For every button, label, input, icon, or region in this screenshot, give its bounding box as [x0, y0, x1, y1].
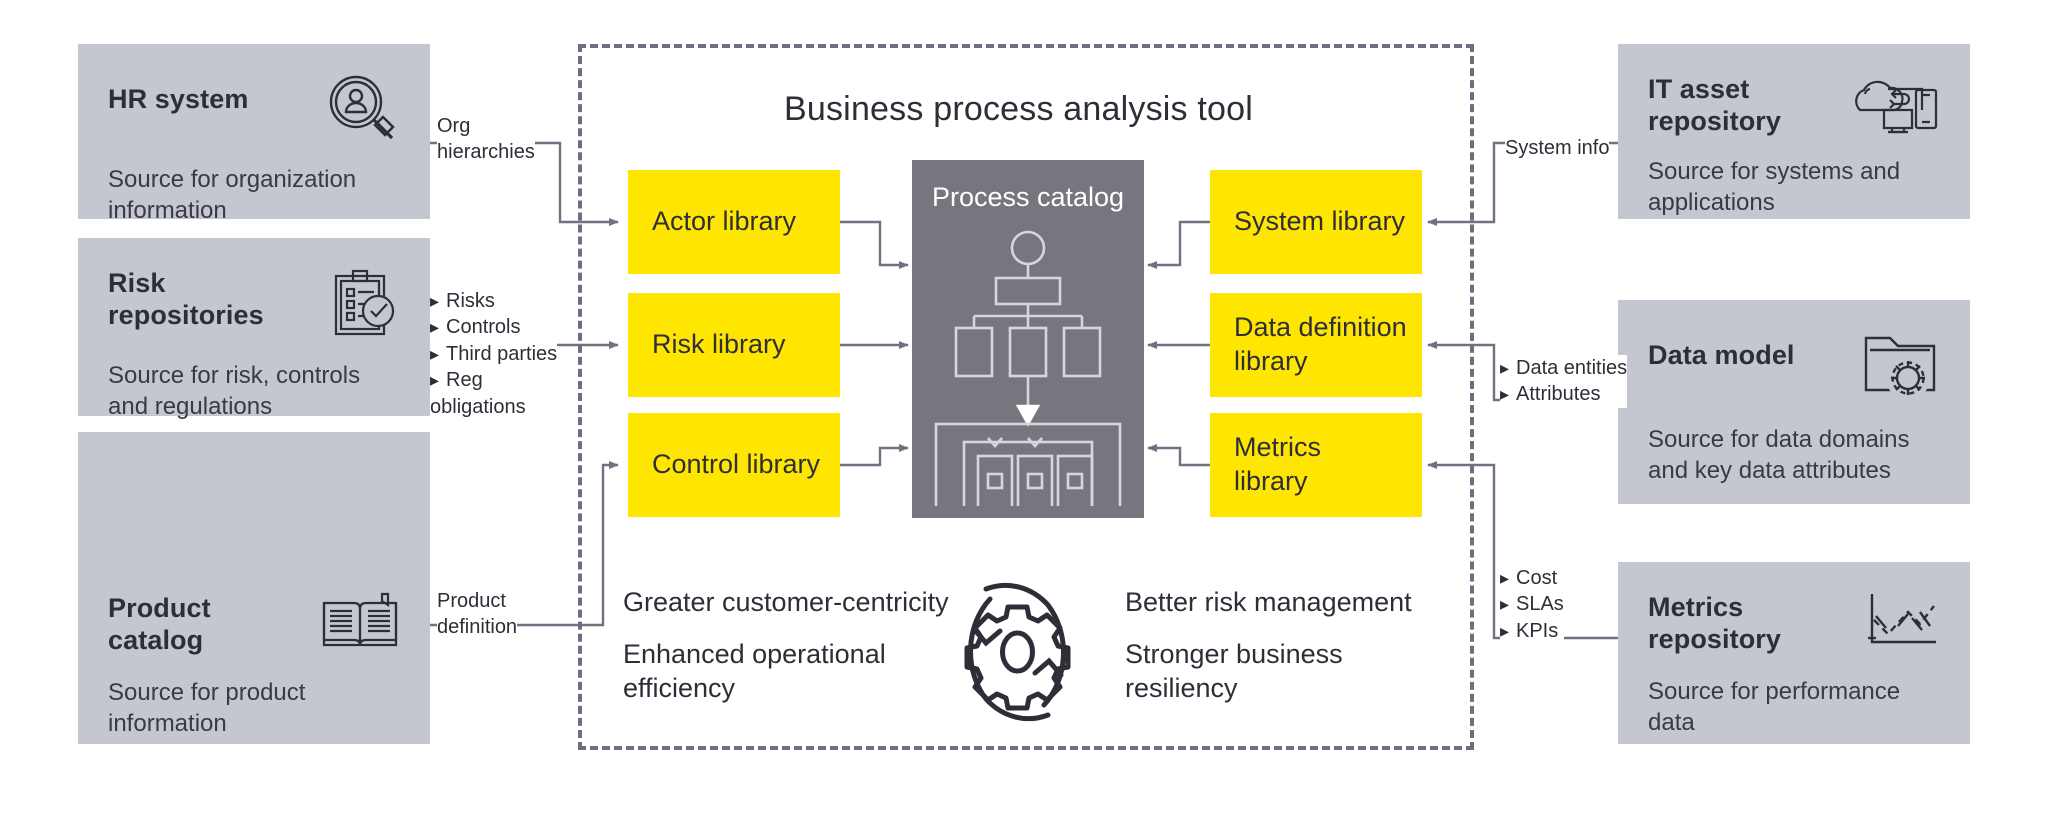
card-title: IT asset repository [1648, 74, 1781, 138]
source-card-metrics-repository[interactable]: Metrics repository Source for performanc… [1618, 562, 1970, 744]
card-title: Data model [1648, 340, 1795, 372]
bullet-slas: SLAs [1500, 591, 1564, 617]
clipboard-check-icon [326, 266, 400, 340]
library-box-data-definition-library[interactable]: Data definition library [1210, 293, 1422, 397]
card-title: Risk repositories [108, 268, 264, 332]
library-label: Metrics library [1234, 431, 1321, 499]
connector-label-system-info: System info [1505, 135, 1609, 161]
library-box-system-library[interactable]: System library [1210, 170, 1422, 274]
connector-bullets-data-model: Data entities Attributes [1500, 355, 1627, 408]
bullet-kpis: KPIs [1500, 618, 1558, 644]
process-catalog-label: Process catalog [912, 182, 1144, 213]
bullet-attributes: Attributes [1500, 381, 1600, 407]
benefit-better-risk-management: Better risk management [1125, 585, 1412, 619]
source-card-risk-repositories[interactable]: Risk repositories Source for risk, contr… [78, 238, 430, 416]
card-header: HR system [108, 72, 400, 146]
library-box-control-library[interactable]: Control library [628, 413, 840, 517]
source-card-product-catalog[interactable] [78, 432, 430, 568]
bullet-cost: Cost [1500, 565, 1557, 591]
library-box-actor-library[interactable]: Actor library [628, 170, 840, 274]
open-book-icon [320, 591, 400, 655]
source-card-data-model[interactable]: Data model Source for data domains and k… [1618, 300, 1970, 504]
cycle-gear-icon [940, 567, 1095, 742]
process-catalog-panel[interactable]: Process catalog [912, 160, 1144, 518]
cloud-devices-icon [1852, 72, 1940, 138]
card-header: Product catalog [108, 591, 400, 657]
connector-bullets-risk: Risks Controls Third parties Reg obligat… [430, 288, 557, 420]
bullet-controls: Controls [430, 314, 520, 340]
card-header: Risk repositories [108, 266, 400, 340]
card-description: Source for performance data [1648, 676, 1940, 738]
card-header: IT asset repository [1648, 72, 1940, 138]
bullet-data-entities: Data entities [1500, 355, 1627, 381]
bullet-risks: Risks [430, 288, 495, 314]
card-description: Source for product information [108, 677, 400, 739]
card-description: Source for systems and applications [1648, 156, 1940, 218]
process-catalog-illustration [912, 216, 1144, 511]
library-label: Actor library [652, 205, 796, 239]
diagram-canvas: Business process analysis tool HR system… [0, 0, 2048, 815]
page-title: Business process analysis tool [784, 90, 1253, 129]
card-header: Metrics repository [1648, 590, 1940, 656]
card-description: Source for data domains and key data att… [1648, 424, 1940, 486]
connector-bullets-metrics: Cost SLAs KPIs [1500, 565, 1564, 644]
line-chart-icon [1864, 590, 1940, 648]
library-label: Data definition library [1234, 311, 1407, 379]
benefit-stronger-business-resiliency: Stronger business resiliency [1125, 637, 1343, 705]
folder-gear-icon [1860, 328, 1940, 400]
library-box-risk-library[interactable]: Risk library [628, 293, 840, 397]
connector-label-product-definition: Product definition [437, 588, 517, 641]
source-card-it-asset-repository[interactable]: IT asset repository Source for systems [1618, 44, 1970, 219]
library-label: Control library [652, 448, 820, 482]
card-description: Source for organization information [108, 164, 400, 226]
card-title: HR system [108, 84, 248, 116]
benefit-greater-customer-centricity: Greater customer-centricity [623, 585, 949, 619]
connector-label-org-hierarchies: Org hierarchies [437, 113, 535, 166]
benefit-enhanced-operational-efficiency: Enhanced operational efficiency [623, 637, 886, 705]
source-card-hr-system[interactable]: HR system Source for organization inform… [78, 44, 430, 219]
library-label: System library [1234, 205, 1405, 239]
library-box-metrics-library[interactable]: Metrics library [1210, 413, 1422, 517]
card-title: Product catalog [108, 593, 211, 657]
card-description: Source for risk, controls and regulation… [108, 360, 400, 422]
library-label: Risk library [652, 328, 786, 362]
card-title: Metrics repository [1648, 592, 1781, 656]
source-card-product-catalog-body[interactable]: Product catalog Source for product infor… [78, 563, 430, 744]
card-header: Data model [1648, 328, 1940, 400]
bullet-reg-obligations: Reg obligations [430, 367, 526, 420]
magnifier-person-icon [326, 72, 400, 146]
bullet-third-parties: Third parties [430, 341, 557, 367]
